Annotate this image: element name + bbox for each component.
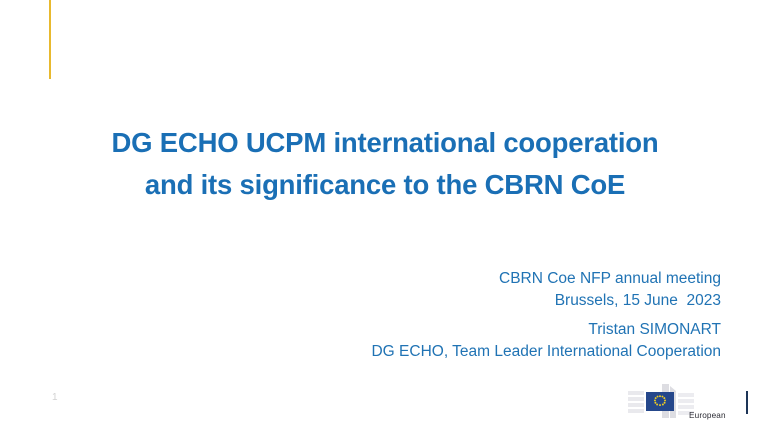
page-title: DG ECHO UCPM international cooperation a… [50,122,720,206]
page-number: 1 [52,391,58,405]
logo-wordmark-line-1: European [689,411,736,422]
eu-flag-icon [646,392,674,411]
meeting-location-date: Brussels, 15 June 2023 [240,290,721,312]
european-commission-logo: European Commission [628,380,753,422]
meeting-name: CBRN Coe NFP annual meeting [240,268,721,290]
author-name: Tristan SIMONART [240,319,721,341]
logo-divider-bar [746,391,748,414]
author-info: Tristan SIMONART DG ECHO, Team Leader In… [240,319,721,363]
page-title-line-2: and its significance to the CBRN CoE [50,164,720,206]
page-title-line-1: DG ECHO UCPM international cooperation [50,122,720,164]
author-role: DG ECHO, Team Leader International Coope… [240,341,721,363]
gold-accent-rule [49,0,51,79]
logo-wordmark: European Commission [689,390,736,431]
presentation-slide: DG ECHO UCPM international cooperation a… [0,0,767,431]
meeting-info: CBRN Coe NFP annual meeting Brussels, 15… [240,268,721,312]
